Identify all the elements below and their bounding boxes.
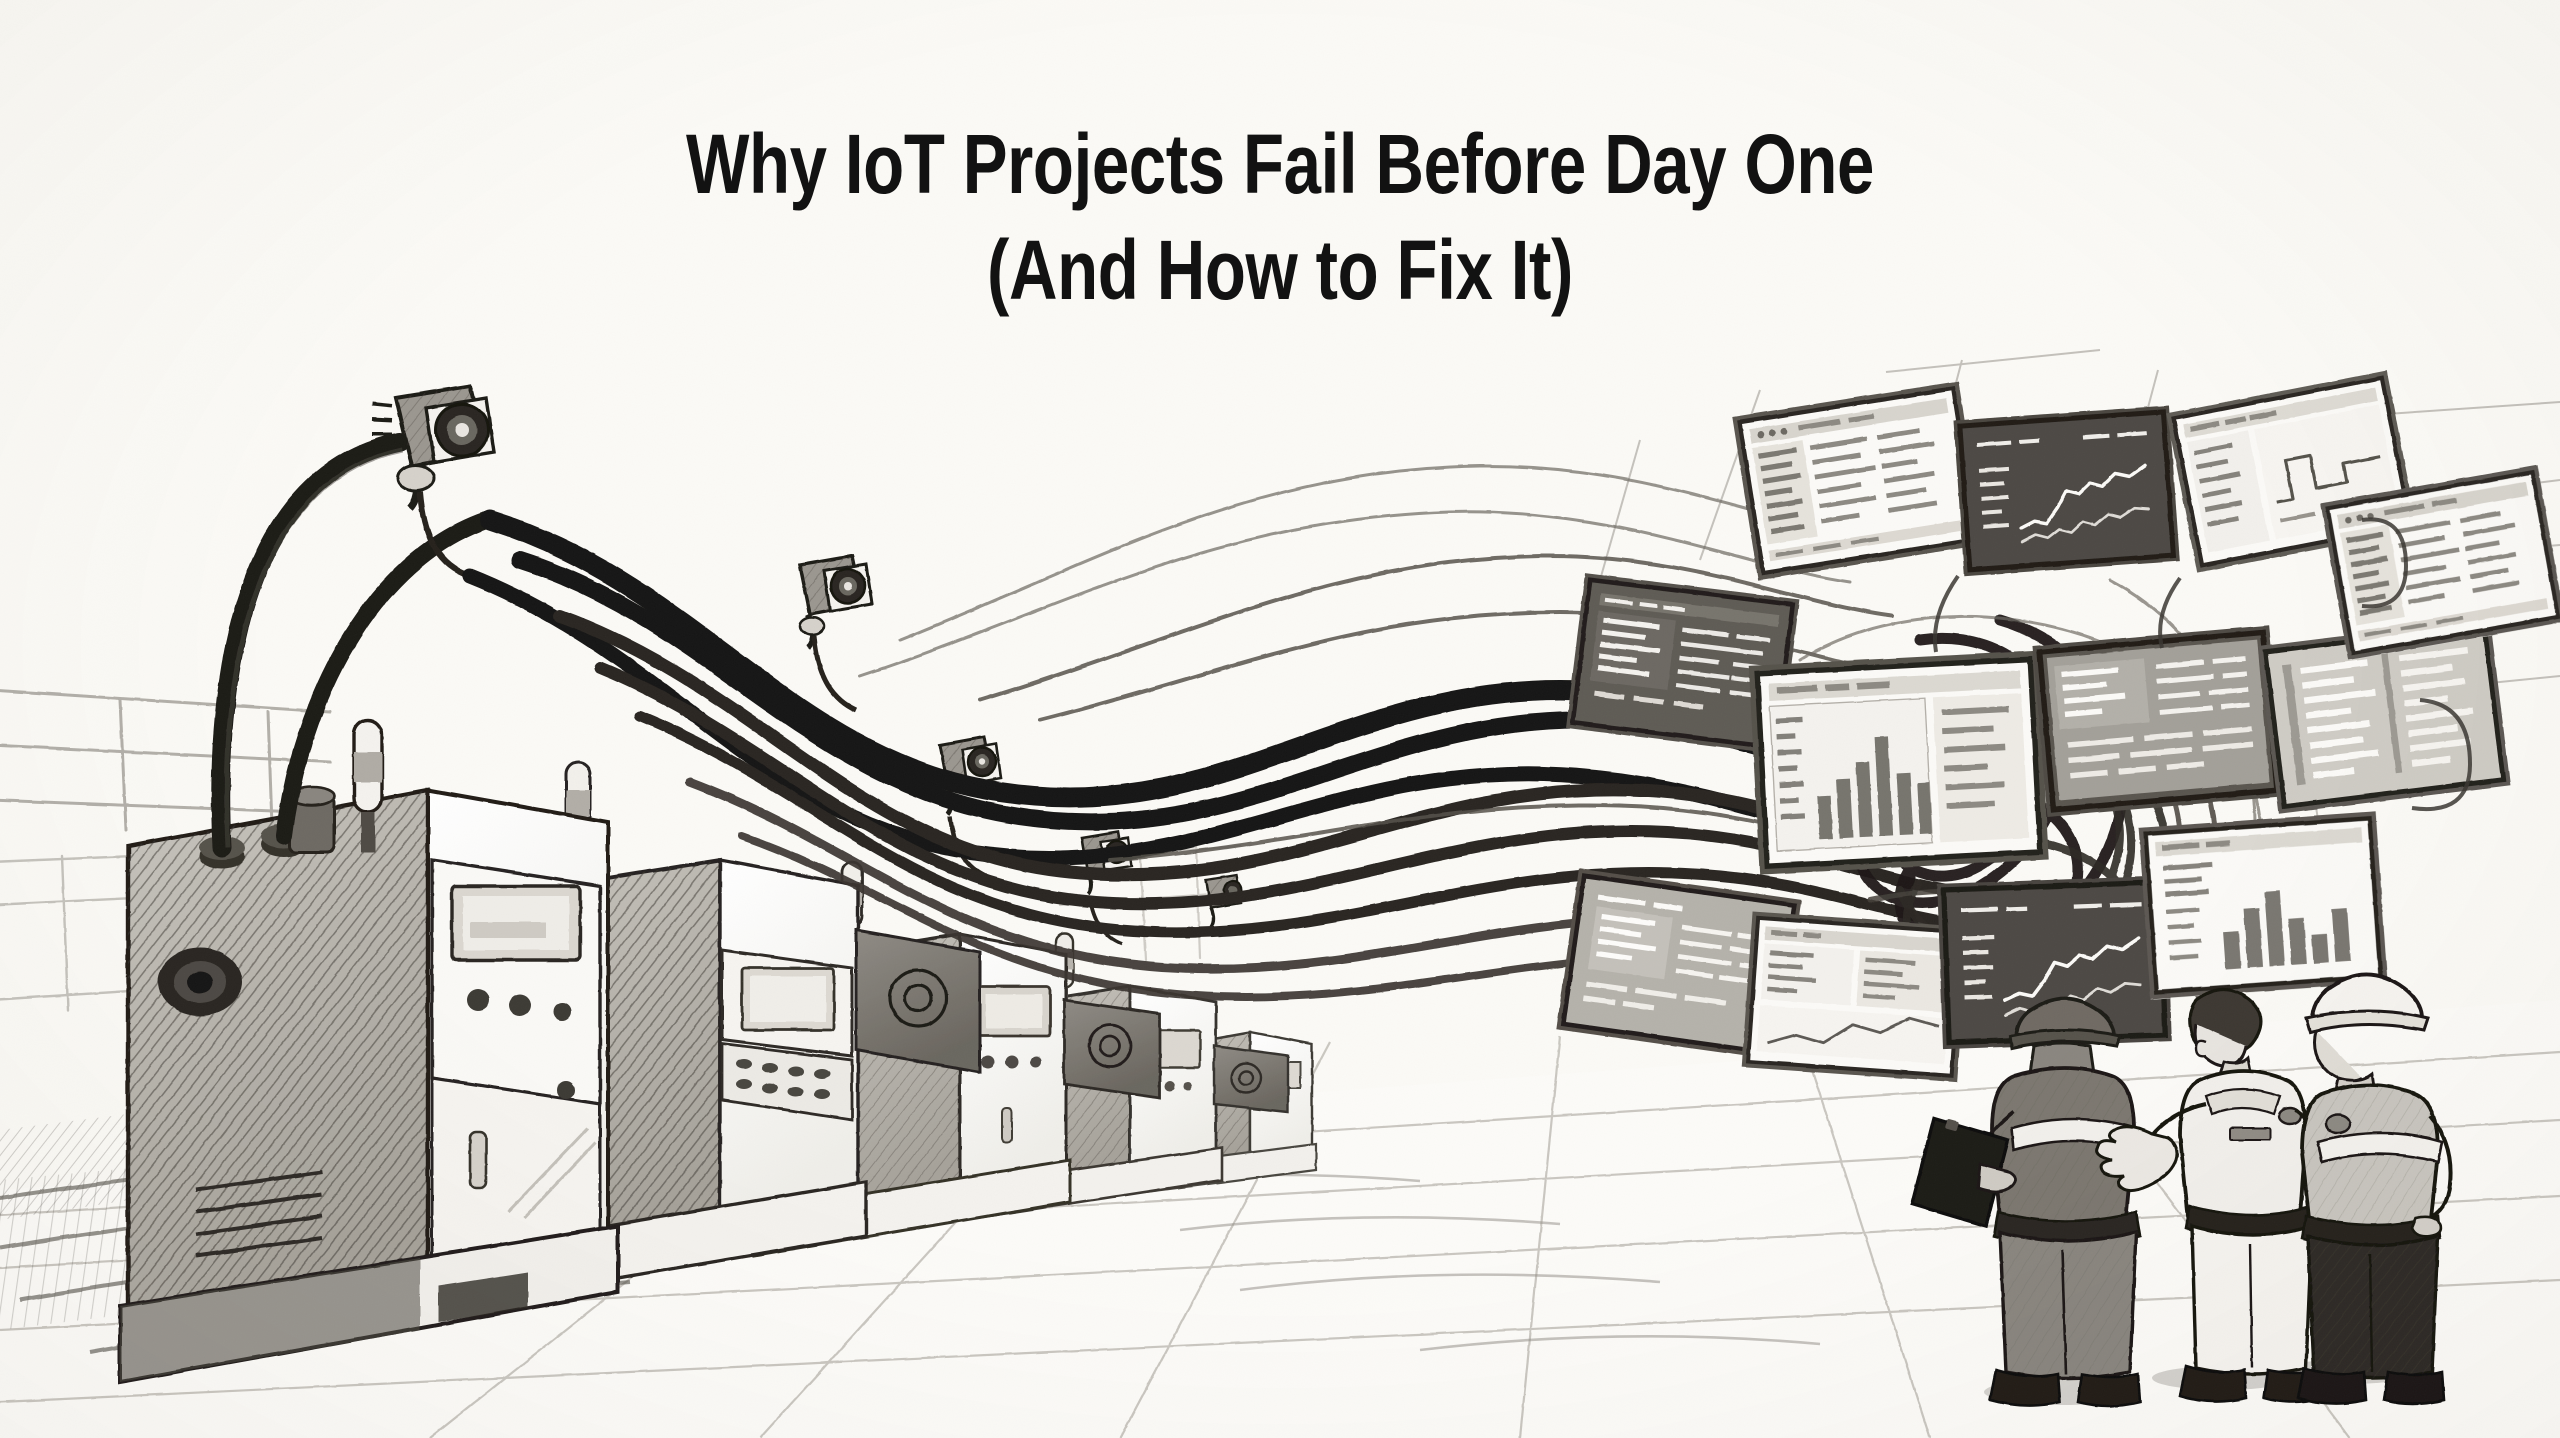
paper-grain bbox=[0, 0, 2560, 1438]
factory-scene-illustration bbox=[0, 0, 2560, 1438]
illustration-canvas: Why IoT Projects Fail Before Day One (An… bbox=[0, 0, 2560, 1438]
